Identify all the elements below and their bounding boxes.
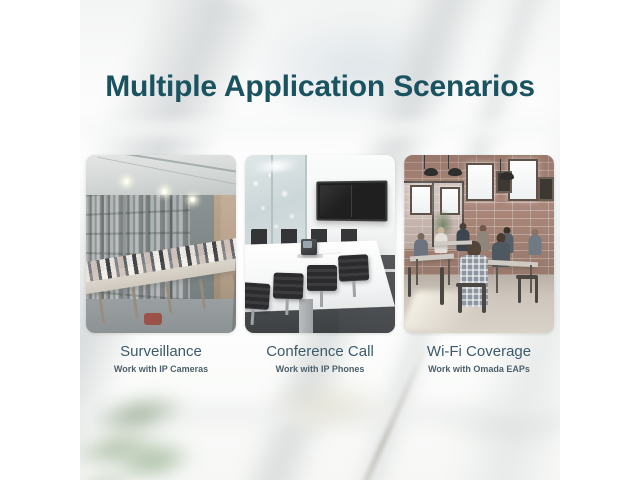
letterbox-bar-left: [0, 0, 80, 480]
scenario-card-row: [86, 155, 554, 333]
table-leg: [416, 259, 418, 285]
office-chair: [272, 272, 303, 315]
table-leg: [448, 259, 450, 285]
cafe-chair-leg: [458, 285, 462, 313]
wifi-coverage-photo: [404, 155, 554, 333]
office-chair: [245, 282, 270, 326]
wall-picture: [538, 177, 554, 201]
table-leg: [530, 265, 532, 293]
scenario-card-conference-call[interactable]: [245, 155, 395, 333]
scenario-card-wifi-coverage[interactable]: [404, 155, 554, 333]
cafe-chair: [440, 267, 444, 305]
poster-canvas: Multiple Application Scenarios: [80, 0, 560, 480]
chair-post: [352, 281, 356, 297]
table-leg: [496, 265, 498, 293]
chair-post: [320, 291, 323, 307]
caption-heading: Surveillance: [86, 342, 236, 361]
window: [466, 163, 494, 201]
lamp-shade: [500, 172, 514, 180]
ceiling-spot-light: [162, 189, 167, 194]
chair-backrest: [245, 282, 270, 310]
office-chair: [307, 265, 337, 307]
caption-subheading: Work with IP Phones: [245, 363, 395, 375]
conference-call-photo: [245, 155, 395, 333]
caption-heading: Wi-Fi Coverage: [404, 342, 554, 361]
seated-person: [434, 227, 447, 253]
lamp-cord: [424, 155, 425, 169]
chair-backrest: [307, 265, 337, 291]
phone-screen: [303, 241, 312, 248]
caption-surveillance: Surveillance Work with IP Cameras: [86, 342, 236, 384]
cafe-chair-leg: [408, 267, 411, 297]
scenario-card-surveillance[interactable]: [86, 155, 236, 333]
ceiling: [86, 155, 236, 195]
chair-post: [251, 309, 255, 325]
ceiling-spot-light: [124, 179, 129, 184]
red-bag: [144, 313, 162, 325]
poster-stage: Multiple Application Scenarios: [0, 0, 640, 480]
wall-mounted-tv: [316, 180, 387, 221]
seated-person: [528, 229, 541, 255]
lamp-shade: [424, 168, 438, 176]
person-body: [528, 235, 541, 255]
office-chair: [338, 254, 370, 298]
chair-backrest: [273, 272, 304, 299]
lamp-shade: [448, 168, 462, 176]
chair-backrest: [338, 254, 369, 282]
background-blur-blob: [270, 376, 390, 436]
window: [410, 185, 432, 215]
lamp-cord: [500, 159, 501, 173]
cafe-chair-leg: [482, 285, 486, 313]
caption-heading: Conference Call: [245, 342, 395, 361]
tv-screen-divider: [351, 185, 352, 217]
page-title: Multiple Application Scenarios: [80, 70, 560, 104]
caption-conference-call: Conference Call Work with IP Phones: [245, 342, 395, 384]
background-plant-blur: [80, 420, 220, 480]
caption-row: Surveillance Work with IP Cameras Confer…: [86, 342, 554, 384]
caption-wifi-coverage: Wi-Fi Coverage Work with Omada EAPs: [404, 342, 554, 384]
ip-desk-phone: [301, 239, 317, 255]
background-horizontal-band: [80, 116, 560, 142]
caption-subheading: Work with Omada EAPs: [404, 363, 554, 375]
letterbox-bar-right: [560, 0, 640, 480]
caption-subheading: Work with IP Cameras: [86, 363, 236, 375]
ceiling-spot-light: [190, 197, 195, 202]
chair-post: [285, 299, 289, 315]
window: [508, 159, 538, 201]
cafe-chair-leg: [518, 277, 521, 303]
lamp-cord: [448, 155, 449, 169]
cafe-chair-leg: [535, 277, 538, 303]
surveillance-photo: [86, 155, 236, 333]
background-blur-blob: [440, 405, 560, 447]
